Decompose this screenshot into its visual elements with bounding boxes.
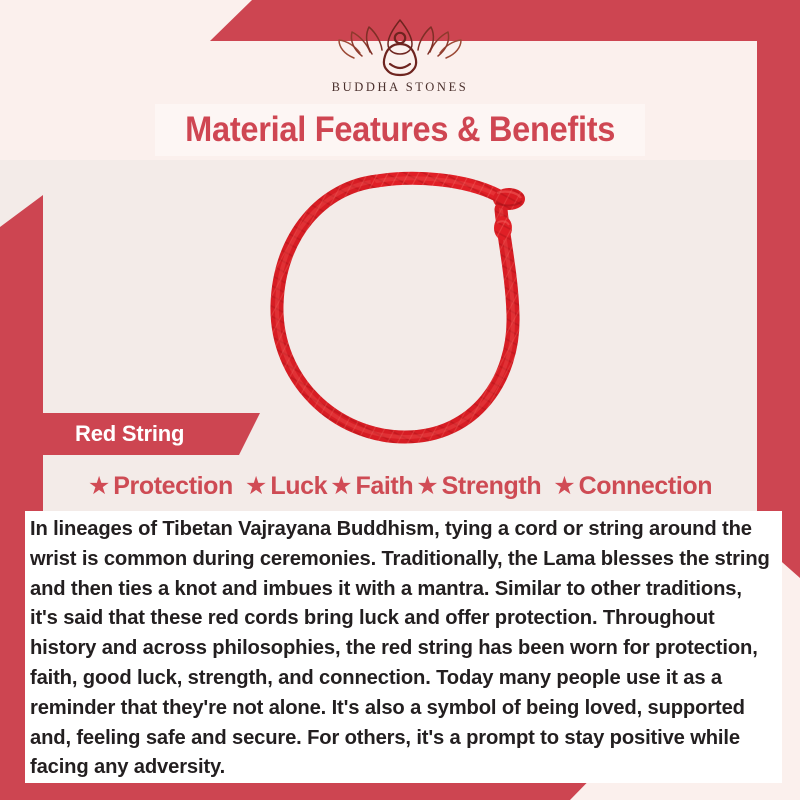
benefit-label: Luck (270, 472, 327, 501)
benefit-connection: ★ Connection (553, 472, 712, 501)
star-icon: ★ (88, 474, 110, 499)
star-icon: ★ (330, 474, 352, 499)
description-card: In lineages of Tibetan Vajrayana Buddhis… (25, 511, 782, 783)
star-icon: ★ (553, 474, 575, 499)
benefit-label: Connection (579, 472, 713, 501)
product-image (265, 165, 565, 460)
page-title-text: Material Features & Benefits (185, 110, 615, 150)
benefit-faith: ★ Faith (330, 472, 413, 501)
benefit-label: Protection (113, 472, 233, 501)
poster-root: BUDDHA STONES Material Features & Benefi… (0, 0, 800, 800)
material-banner: Red String (25, 413, 260, 455)
page-title: Material Features & Benefits (155, 104, 645, 156)
material-banner-label: Red String (75, 421, 184, 447)
brand-logo: BUDDHA STONES (0, 14, 800, 95)
benefit-luck: ★ Luck (245, 472, 327, 501)
benefit-strength: ★ Strength (416, 472, 541, 501)
benefit-label: Strength (442, 472, 542, 501)
lotus-meditation-icon (330, 14, 470, 78)
benefit-label: Faith (356, 472, 414, 501)
benefits-row: ★ Protection ★ Luck ★ Faith ★ Strength ★… (0, 466, 800, 506)
star-icon: ★ (416, 474, 438, 499)
star-icon: ★ (245, 474, 267, 499)
brand-name: BUDDHA STONES (332, 80, 469, 95)
benefit-protection: ★ Protection (88, 472, 233, 501)
description-text: In lineages of Tibetan Vajrayana Buddhis… (25, 515, 782, 783)
